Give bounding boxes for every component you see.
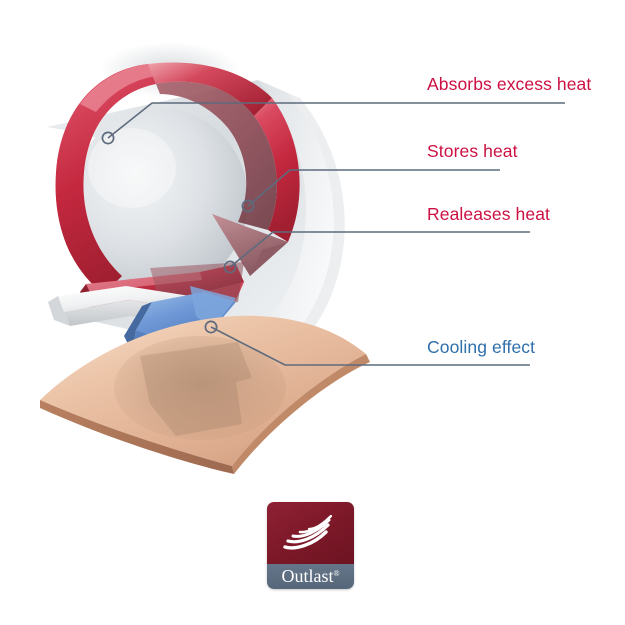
callout-label-stores-heat: Stores heat	[427, 143, 518, 161]
logo-brand-name: Outlast®	[281, 567, 339, 585]
logo-top-panel	[267, 502, 354, 564]
outlast-logo: Outlast®	[267, 502, 354, 589]
callout-label-absorbs-excess-heat: Absorbs excess heat	[427, 76, 591, 94]
callout-label-releases-heat: Realeases heat	[427, 206, 550, 224]
logo-wordmark-panel: Outlast®	[267, 564, 354, 589]
logo-trademark-symbol: ®	[333, 569, 339, 578]
skin-surface	[40, 316, 370, 474]
logo-brand-text: Outlast	[281, 566, 333, 586]
outlast-swoosh-icon	[281, 514, 340, 556]
diagram-canvas: Absorbs excess heat Stores heat Realease…	[0, 0, 625, 625]
callout-label-cooling-effect: Cooling effect	[427, 339, 535, 357]
